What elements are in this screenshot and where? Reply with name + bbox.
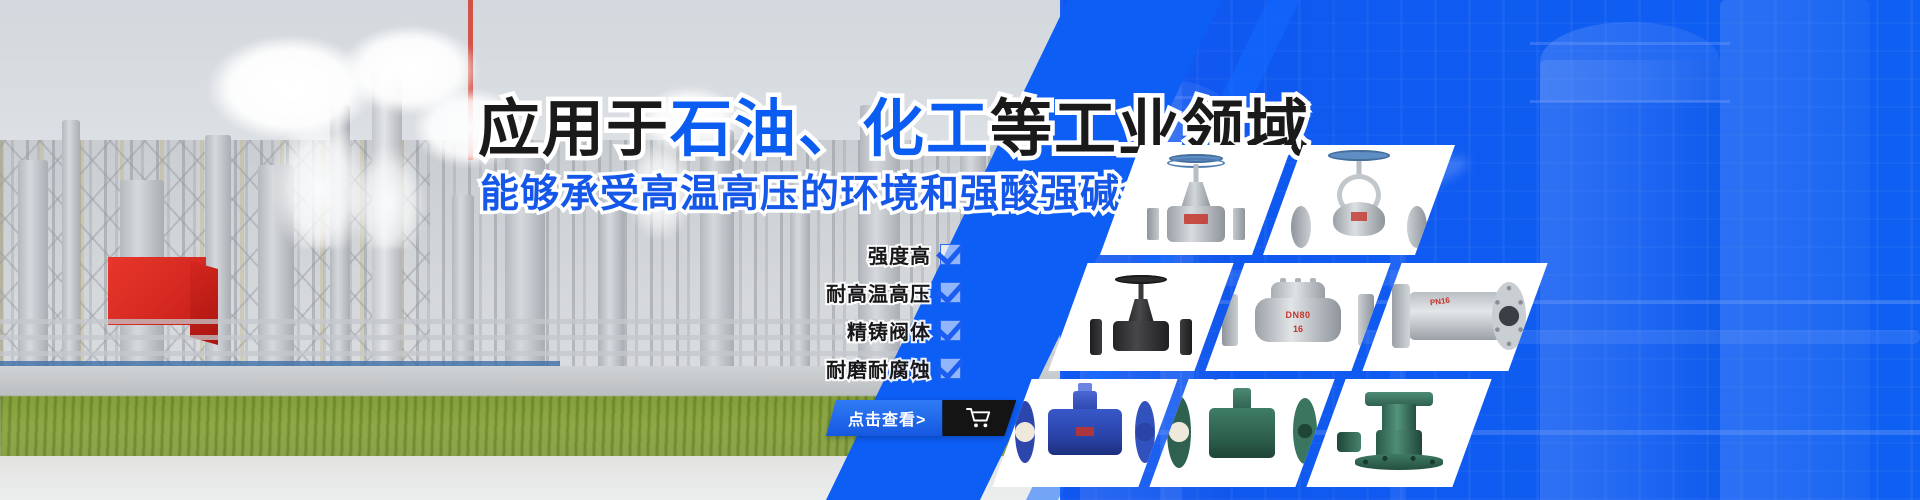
flanged-valve-green-image (1353, 392, 1445, 474)
feature-label: 强度高 (868, 240, 931, 269)
headline-highlight: 石油、化工 (670, 95, 990, 164)
feature-checklist: 强度高 耐高温高压 精铸阀体 耐磨耐腐蚀 (826, 240, 961, 383)
lined-ball-valve-blue-image (1031, 395, 1139, 471)
cta-button[interactable]: 点击查看> (826, 400, 1016, 436)
ball-valve-green-lever-image (1187, 392, 1297, 474)
feature-item: 强度高 (868, 240, 961, 269)
flanged-spool-valve-image: PN16 (1396, 282, 1514, 352)
feature-label: 耐高温高压 (826, 278, 931, 307)
page-subtitle: 能够承受高温高压的环境和强酸强碱介质 (480, 163, 1200, 219)
swing-check-valve-image: DN80 16 (1238, 282, 1358, 352)
cta-label[interactable]: 点击查看> (826, 400, 942, 436)
cta-cart-panel[interactable] (942, 400, 1016, 436)
feature-item: 耐磨耐腐蚀 (826, 354, 961, 383)
headline-part-1: 应用于 (478, 95, 670, 164)
checkbox-checked-icon (940, 320, 961, 341)
check-valve-marking-2: 16 (1293, 324, 1303, 334)
hero-banner: 应用于石油、化工等工业领域 能够承受高温高压的环境和强酸强碱介质 强度高 耐高温… (0, 0, 1920, 500)
shopping-cart-icon (966, 407, 992, 429)
checkbox-checked-icon (940, 244, 961, 265)
checkbox-checked-icon (940, 358, 961, 379)
feature-item: 耐高温高压 (826, 278, 961, 307)
check-valve-marking: DN80 (1285, 310, 1310, 320)
gate-valve-black-image (1100, 275, 1182, 359)
checkbox-checked-icon (940, 282, 961, 303)
globe-valve-flanged-image (1311, 150, 1407, 250)
feature-label: 精铸阀体 (847, 316, 931, 345)
feature-label: 耐磨耐腐蚀 (826, 354, 931, 383)
gate-valve-grey-image (1153, 152, 1239, 248)
feature-item: 精铸阀体 (847, 316, 961, 345)
